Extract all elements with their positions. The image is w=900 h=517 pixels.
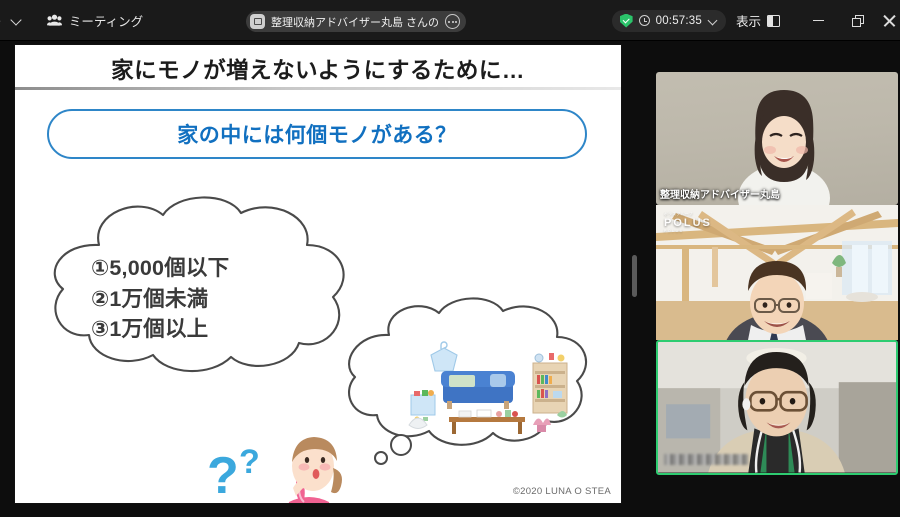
svg-text:?: ? <box>207 447 239 504</box>
meeting-window: ce ミーティング 整理収納アドバイザー丸島 さんの <box>0 0 900 517</box>
participant-name-label-blurred <box>664 454 748 465</box>
panel-divider[interactable] <box>628 41 642 517</box>
restore-icon <box>852 15 864 27</box>
list-item: ②1万個未満 <box>91 284 351 315</box>
question-box: 家の中には何個モノがある？ <box>47 109 587 159</box>
polus-watermark-label: POLUS <box>664 217 712 229</box>
slide-title: 家にモノが増えないようにするために… <box>15 53 621 85</box>
screen-share-pill[interactable]: 整理収納アドバイザー丸島 さんの <box>246 11 466 32</box>
video-tile[interactable]: ポラスグループ POLUS POLUS <box>656 205 898 340</box>
more-options-icon[interactable] <box>445 14 460 29</box>
close-icon <box>883 15 895 27</box>
meeting-timer: 00:57:35 <box>656 15 702 27</box>
minimize-icon <box>813 20 824 22</box>
drag-handle-icon[interactable] <box>632 255 637 297</box>
list-item: ③1万個以上 <box>91 314 351 345</box>
minimize-button[interactable] <box>798 0 838 41</box>
layout-view-icon <box>767 15 780 27</box>
meeting-tab[interactable]: ミーティング <box>47 11 143 30</box>
share-pill-label: 整理収納アドバイザー丸島 さんの <box>271 14 439 30</box>
copyright-text: ©2020 LUNA O STEA <box>513 486 611 497</box>
title-divider-rule <box>15 87 621 90</box>
close-button[interactable] <box>878 0 900 41</box>
meeting-label: ミーティング <box>69 11 143 30</box>
chevron-down-icon[interactable] <box>708 16 718 26</box>
question-box-text: 家の中には何個モノがある？ <box>177 119 457 149</box>
title-bar: ce ミーティング 整理収納アドバイザー丸島 さんの <box>0 0 900 41</box>
list-item: ①5,000個以下 <box>91 253 351 284</box>
options-list: ①5,000個以下 ②1万個未満 ③1万個以上 <box>91 253 351 345</box>
restore-button[interactable] <box>838 0 878 41</box>
participants-video-panel: 整理収納アドバイザー丸島 <box>642 41 900 517</box>
titlebar-right-group: 00:57:35 表示 <box>612 0 900 41</box>
thinking-woman-icon <box>267 430 351 504</box>
view-button[interactable]: 表示 <box>736 11 780 30</box>
chevron-down-icon[interactable] <box>11 14 23 26</box>
polus-watermark-icon: ポラスグループ POLUS POLUS <box>664 213 712 233</box>
view-button-label: 表示 <box>736 11 761 30</box>
people-icon <box>47 14 62 26</box>
video-tile[interactable]: 整理収納アドバイザー丸島 <box>656 72 898 205</box>
encryption-timer-chip[interactable]: 00:57:35 <box>612 10 726 32</box>
screen-share-icon <box>250 14 265 29</box>
svg-text:?: ? <box>239 443 260 481</box>
video-tile-active-speaker[interactable] <box>656 340 898 475</box>
participant-name-label: 整理収納アドバイザー丸島 <box>660 186 780 201</box>
titlebar-left-group: ce ミーティング <box>0 11 143 30</box>
cluttered-room-icon <box>397 333 577 443</box>
app-name-label: ce <box>0 13 1 28</box>
shield-encryption-icon <box>620 14 633 28</box>
presentation-slide[interactable]: 家にモノが増えないようにするために… 家の中には何個モノがある？ ①5,000個… <box>14 44 622 504</box>
clock-icon <box>639 15 650 26</box>
participant-video-image <box>658 342 896 473</box>
